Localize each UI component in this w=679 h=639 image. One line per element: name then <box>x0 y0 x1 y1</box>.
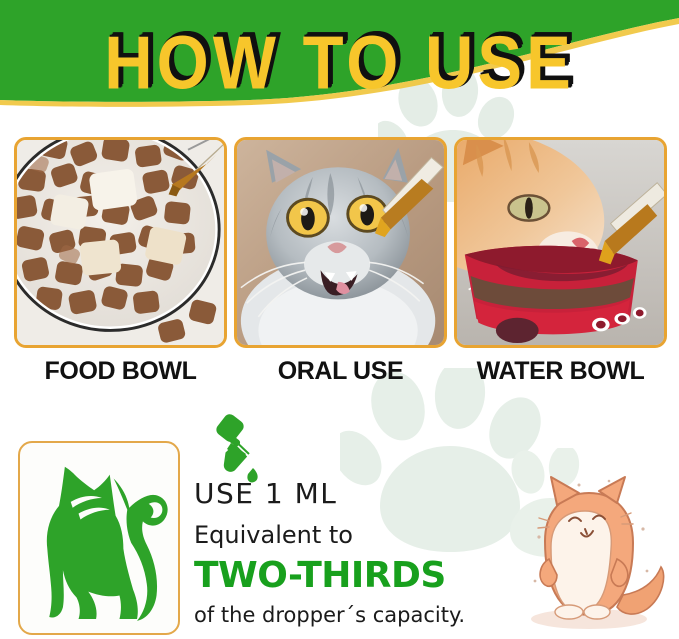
capacity-line: of the dropper´s capacity. <box>194 601 524 629</box>
panel-water-bowl[interactable] <box>454 137 667 348</box>
cat-silhouette-icon <box>20 443 178 633</box>
page-title: HOW TO USE <box>0 26 679 102</box>
header-banner: HOW TO USE <box>0 0 679 130</box>
dose-line: USE 1 ML <box>194 477 524 511</box>
panel-food-bowl[interactable] <box>14 137 227 348</box>
caption-water-bowl: WATER BOWL <box>454 356 667 386</box>
food-bowl-photo <box>17 140 224 345</box>
usage-panels <box>0 137 679 349</box>
water-bowl-photo <box>457 140 664 345</box>
panel-oral-use[interactable] <box>234 137 447 348</box>
equivalent-label: Equivalent to <box>194 518 524 552</box>
instruction-text: USE 1 ML Equivalent to TWO-THIRDS of the… <box>194 477 524 629</box>
caption-food-bowl: FOOD BOWL <box>14 356 227 386</box>
cartoon-cat-illustration <box>505 467 675 635</box>
caption-oral-use: ORAL USE <box>234 356 447 386</box>
fraction-value: TWO-THIRDS <box>194 555 524 597</box>
how-to-use-infographic: HOW TO USE <box>0 0 679 639</box>
cat-silhouette-card <box>18 441 180 635</box>
panel-captions: FOOD BOWL ORAL USE WATER BOWL <box>0 356 679 392</box>
oral-use-photo <box>237 140 444 345</box>
